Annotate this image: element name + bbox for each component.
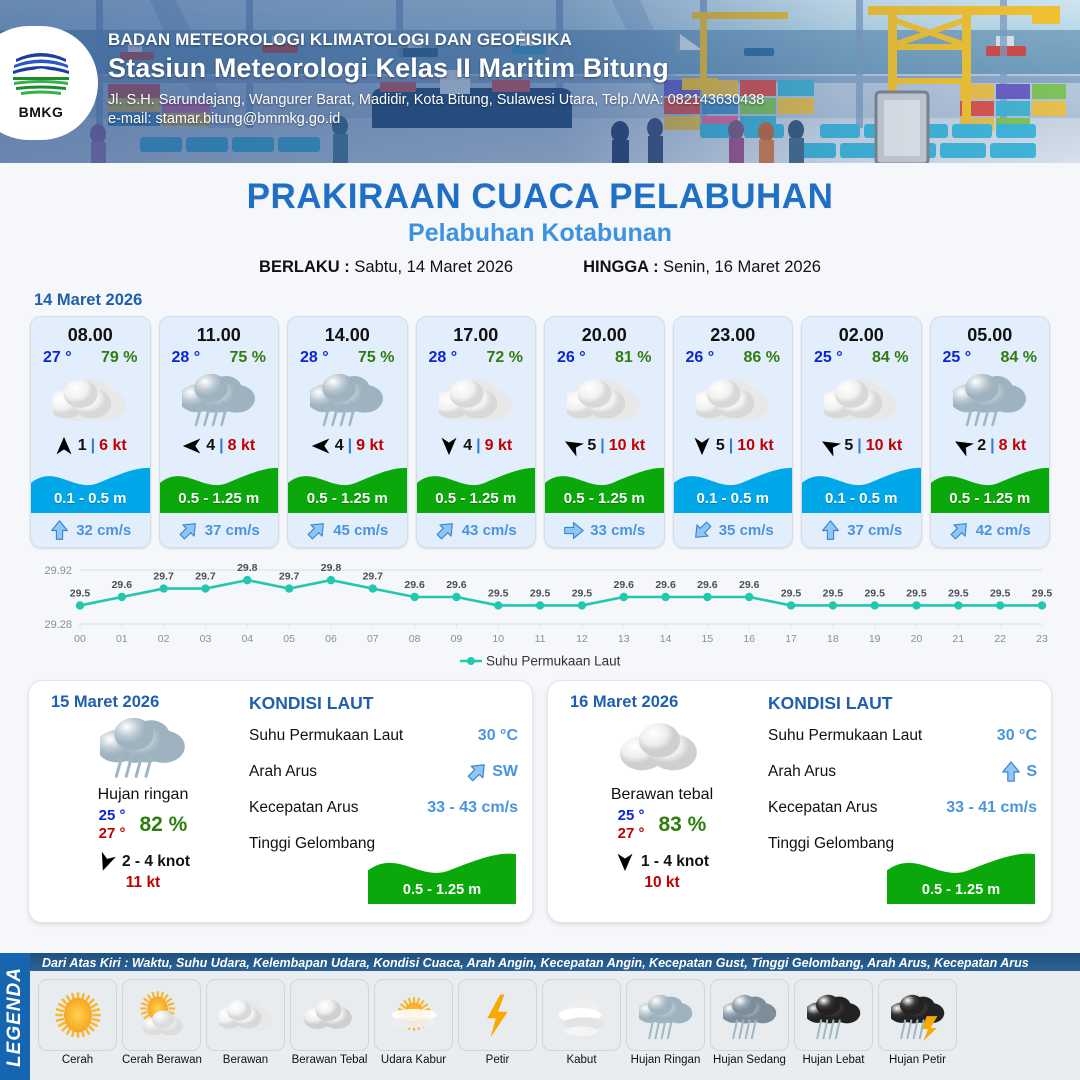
legend-item-label: Udara Kabur <box>374 1054 453 1066</box>
sea-condition-row: Arah Arus SW <box>249 754 518 790</box>
sea-condition-value: S <box>1026 763 1037 781</box>
svg-text:04: 04 <box>241 633 253 645</box>
legend-item-label: Petir <box>458 1054 537 1066</box>
card-humidity: 84 % <box>872 349 908 367</box>
legend-item-label: Cerah Berawan <box>122 1054 201 1066</box>
card-gust: 9 kt <box>356 437 384 455</box>
card-gust: 9 kt <box>485 437 513 455</box>
station-name: Stasiun Meteorologi Kelas II Maritim Bit… <box>108 53 764 84</box>
sea-condition-value: SW <box>492 763 518 781</box>
wind-separator: | <box>91 437 95 455</box>
current-direction-icon <box>462 756 493 787</box>
legend-icon-cerah-berawan <box>122 979 201 1051</box>
svg-text:29.7: 29.7 <box>195 571 216 583</box>
svg-text:29.5: 29.5 <box>1032 587 1053 599</box>
card-current-row: 35 cm/s <box>674 513 793 547</box>
card-humidity: 86 % <box>744 349 780 367</box>
legend-item: Berawan <box>206 979 285 1066</box>
card-wave-block: 0.5 - 1.25 m <box>545 461 664 513</box>
svg-text:01: 01 <box>116 633 128 645</box>
card-current-speed: 45 cm/s <box>333 522 388 539</box>
card-wave-block: 0.5 - 1.25 m <box>931 461 1050 513</box>
card-wind-row: 5 | 10 kt <box>545 431 664 461</box>
svg-text:29.7: 29.7 <box>153 571 174 583</box>
svg-text:07: 07 <box>367 633 379 645</box>
legend-note: Dari Atas Kiri : Waktu, Suhu Udara, Kele… <box>30 953 1080 975</box>
card-humidity: 81 % <box>615 349 651 367</box>
current-direction-icon <box>820 520 841 541</box>
sea-condition-value: 30 °C <box>997 727 1037 745</box>
svg-text:29.5: 29.5 <box>572 587 593 599</box>
card-wind-speed: 5 <box>716 437 725 455</box>
card-gust: 10 kt <box>866 437 902 455</box>
card-current-speed: 37 cm/s <box>205 522 260 539</box>
legend-item-label: Hujan Sedang <box>710 1054 789 1066</box>
hourly-date-label: 14 Maret 2026 <box>34 291 1080 310</box>
sea-condition-key: Suhu Permukaan Laut <box>768 727 922 745</box>
card-time: 08.00 <box>31 317 150 346</box>
card-gust: 10 kt <box>609 437 645 455</box>
svg-text:29.6: 29.6 <box>655 579 676 591</box>
wind-separator: | <box>729 437 733 455</box>
legend-item: Petir <box>458 979 537 1066</box>
svg-text:22: 22 <box>994 633 1006 645</box>
card-current-row: 45 cm/s <box>288 513 407 547</box>
card-current-speed: 33 cm/s <box>590 522 645 539</box>
page-subtitle: Pelabuhan Kotabunan <box>0 219 1080 248</box>
daily-wind-row: 2 - 4 knot <box>43 852 243 872</box>
sea-surface-temp-chart: 29.9229.28000102030405060708091011121314… <box>22 558 1058 656</box>
wind-direction-icon <box>439 436 459 456</box>
legend-item: Cerah <box>38 979 117 1066</box>
valid-until-value: Senin, 16 Maret 2026 <box>663 258 821 276</box>
validity-row: BERLAKU : Sabtu, 14 Maret 2026 HINGGA : … <box>0 258 1080 277</box>
legend-icon-hujan-sedang <box>710 979 789 1051</box>
card-wave-height: 0.1 - 0.5 m <box>674 490 793 507</box>
sea-condition-value: 30 °C <box>478 727 518 745</box>
card-humidity: 79 % <box>101 349 137 367</box>
svg-text:03: 03 <box>200 633 212 645</box>
daily-temp-min: 25 ° <box>99 807 126 824</box>
daily-wave-height: 0.5 - 1.25 m <box>368 882 516 898</box>
card-current-row: 33 cm/s <box>545 513 664 547</box>
wind-direction-icon <box>615 852 635 872</box>
card-weather-icon-berawan <box>31 369 150 431</box>
wind-direction-icon <box>182 436 202 456</box>
station-email: e-mail: stamar.bitung@bmmkg.go.id <box>108 111 764 127</box>
daily-temp-min: 25 ° <box>618 807 645 824</box>
wind-separator: | <box>600 437 604 455</box>
svg-text:11: 11 <box>535 633 546 645</box>
daily-right: KONDISI LAUT Suhu Permukaan Laut 30 °C A… <box>243 693 518 910</box>
card-wind-speed: 1 <box>78 437 87 455</box>
hourly-card: 20.00 26 ° 81 % 5 | 10 kt 0.5 - 1.25 m <box>544 316 665 548</box>
legend-item: Hujan Lebat <box>794 979 873 1066</box>
legend-icon-hujan-petir <box>878 979 957 1051</box>
svg-text:10: 10 <box>492 633 504 645</box>
wind-separator: | <box>857 437 861 455</box>
svg-text:29.92: 29.92 <box>44 565 72 577</box>
svg-text:29.6: 29.6 <box>614 579 635 591</box>
card-gust: 8 kt <box>228 437 256 455</box>
card-wind-row: 4 | 8 kt <box>160 431 279 461</box>
sea-condition-key: Kecepatan Arus <box>249 799 358 817</box>
svg-text:29.5: 29.5 <box>781 587 802 599</box>
card-wave-block: 0.5 - 1.25 m <box>288 461 407 513</box>
card-weather-icon-berawan <box>545 369 664 431</box>
card-weather-icon-berawan <box>417 369 536 431</box>
legend-icon-hujan-ringan <box>626 979 705 1051</box>
hourly-card: 14.00 28 ° 75 % 4 | 9 kt 0.5 - 1.25 m <box>287 316 408 548</box>
card-temperature: 26 ° <box>557 349 586 367</box>
card-time: 20.00 <box>545 317 664 346</box>
hourly-card: 23.00 26 ° 86 % 5 | 10 kt 0.1 - 0.5 m <box>673 316 794 548</box>
card-wind-row: 5 | 10 kt <box>674 431 793 461</box>
current-direction-icon <box>563 520 584 541</box>
card-current-row: 37 cm/s <box>160 513 279 547</box>
card-current-row: 37 cm/s <box>802 513 921 547</box>
card-time: 05.00 <box>931 317 1050 346</box>
card-temperature: 25 ° <box>943 349 972 367</box>
svg-text:29.7: 29.7 <box>363 571 384 583</box>
title-block: PRAKIRAAN CUACA PELABUHAN Pelabuhan Kota… <box>0 177 1080 277</box>
card-gust: 8 kt <box>999 437 1027 455</box>
svg-text:05: 05 <box>283 633 295 645</box>
chart-legend-marker-icon <box>460 656 482 666</box>
card-current-speed: 43 cm/s <box>462 522 517 539</box>
sea-condition-value: 33 - 43 cm/s <box>427 799 518 817</box>
card-gust: 10 kt <box>737 437 773 455</box>
daily-gust: 11 kt <box>43 874 243 892</box>
daily-gust: 10 kt <box>562 874 762 892</box>
card-temperature: 28 ° <box>300 349 329 367</box>
card-wave-height: 0.1 - 0.5 m <box>31 490 150 507</box>
daily-humidity: 82 % <box>139 813 187 837</box>
card-weather-icon-berawan <box>674 369 793 431</box>
bmkg-emblem-icon <box>10 47 72 103</box>
card-gust: 6 kt <box>99 437 127 455</box>
card-weather-icon-hujan-ringan <box>931 369 1050 431</box>
legend-icon-berawan-tebal <box>290 979 369 1051</box>
legend-item-label: Hujan Ringan <box>626 1054 705 1066</box>
legend-icon-petir <box>458 979 537 1051</box>
card-current-speed: 35 cm/s <box>719 522 774 539</box>
daily-summary-panel: 16 Maret 2026 Berawan tebal 25 ° 27 ° 83… <box>547 680 1052 923</box>
daily-temp-max: 27 ° <box>99 825 126 842</box>
card-temperature: 26 ° <box>686 349 715 367</box>
valid-until-label: HINGGA : <box>583 258 658 276</box>
sea-condition-key: Tinggi Gelombang <box>768 835 894 853</box>
card-wind-row: 5 | 10 kt <box>802 431 921 461</box>
current-direction-icon <box>1000 761 1022 783</box>
card-wave-block: 0.5 - 1.25 m <box>160 461 279 513</box>
page-title: PRAKIRAAN CUACA PELABUHAN <box>0 177 1080 217</box>
legend-item: Hujan Petir <box>878 979 957 1066</box>
sea-condition-key: Tinggi Gelombang <box>249 835 375 853</box>
svg-text:14: 14 <box>660 633 672 645</box>
card-wave-block: 0.1 - 0.5 m <box>31 461 150 513</box>
svg-text:29.28: 29.28 <box>44 619 72 631</box>
card-temperature: 27 ° <box>43 349 72 367</box>
svg-text:19: 19 <box>869 633 881 645</box>
daily-temp-max: 27 ° <box>618 825 645 842</box>
card-humidity: 72 % <box>487 349 523 367</box>
sea-condition-row: Kecepatan Arus 33 - 43 cm/s <box>249 790 518 826</box>
wind-direction-icon <box>54 436 74 456</box>
card-humidity: 75 % <box>358 349 394 367</box>
legend-icon-hujan-lebat <box>794 979 873 1051</box>
legend-item: Hujan Ringan <box>626 979 705 1066</box>
svg-text:29.6: 29.6 <box>446 579 467 591</box>
current-direction-icon <box>430 515 460 545</box>
card-wind-speed: 4 <box>335 437 344 455</box>
wind-direction-icon <box>692 436 712 456</box>
svg-text:06: 06 <box>325 633 337 645</box>
card-wind-speed: 5 <box>587 437 596 455</box>
svg-text:29.8: 29.8 <box>237 562 258 574</box>
svg-text:29.6: 29.6 <box>112 579 133 591</box>
sea-condition-row: Suhu Permukaan Laut 30 °C <box>768 718 1037 754</box>
daily-right: KONDISI LAUT Suhu Permukaan Laut 30 °C A… <box>762 693 1037 910</box>
daily-left: 16 Maret 2026 Berawan tebal 25 ° 27 ° 83… <box>562 693 762 910</box>
wind-direction-icon <box>560 432 587 459</box>
wind-direction-icon <box>817 432 844 459</box>
legend-item-label: Berawan <box>206 1054 285 1066</box>
card-weather-icon-berawan <box>802 369 921 431</box>
daily-wave-block: 0.5 - 1.25 m <box>887 846 1035 904</box>
card-wind-row: 2 | 8 kt <box>931 431 1050 461</box>
daily-condition: Hujan ringan <box>43 786 243 804</box>
legend-item-label: Cerah <box>38 1054 117 1066</box>
card-wind-row: 1 | 6 kt <box>31 431 150 461</box>
card-current-speed: 37 cm/s <box>847 522 902 539</box>
card-wind-row: 4 | 9 kt <box>288 431 407 461</box>
wind-direction-icon <box>950 432 977 459</box>
legend-body: Dari Atas Kiri : Waktu, Suhu Udara, Kele… <box>30 953 1080 1080</box>
card-wind-speed: 4 <box>463 437 472 455</box>
page-header: BMKG BADAN METEOROLOGI KLIMATOLOGI DAN G… <box>0 0 1080 163</box>
card-wind-speed: 5 <box>844 437 853 455</box>
svg-text:20: 20 <box>911 633 923 645</box>
wind-direction-icon <box>93 849 119 875</box>
svg-text:18: 18 <box>827 633 839 645</box>
sea-condition-key: Suhu Permukaan Laut <box>249 727 403 745</box>
daily-summary-row: 15 Maret 2026 Hujan ringan 25 ° 27 ° 82 … <box>0 670 1080 923</box>
sea-condition-key: Arah Arus <box>768 763 836 781</box>
sea-condition-row: Suhu Permukaan Laut 30 °C <box>249 718 518 754</box>
valid-from-label: BERLAKU : <box>259 258 350 276</box>
card-current-row: 43 cm/s <box>417 513 536 547</box>
card-current-row: 32 cm/s <box>31 513 150 547</box>
daily-date: 15 Maret 2026 <box>51 693 243 712</box>
legend-item: Kabut <box>542 979 621 1066</box>
daily-wind-range: 1 - 4 knot <box>641 853 709 871</box>
card-wave-block: 0.1 - 0.5 m <box>674 461 793 513</box>
svg-text:29.5: 29.5 <box>864 587 885 599</box>
sea-condition-title: KONDISI LAUT <box>768 693 1037 714</box>
svg-text:00: 00 <box>74 633 86 645</box>
sea-condition-key: Kecepatan Arus <box>768 799 877 817</box>
svg-text:09: 09 <box>451 633 463 645</box>
svg-text:29.5: 29.5 <box>488 587 509 599</box>
card-current-speed: 42 cm/s <box>976 522 1031 539</box>
svg-text:21: 21 <box>953 633 965 645</box>
station-address: Jl. S.H. Sarundajang, Wangurer Barat, Ma… <box>108 92 764 108</box>
svg-text:08: 08 <box>409 633 421 645</box>
legend-items-row: Cerah Cerah Berawan Berawan <box>30 975 1080 1066</box>
card-wave-block: 0.1 - 0.5 m <box>802 461 921 513</box>
svg-text:29.5: 29.5 <box>823 587 844 599</box>
valid-until: HINGGA : Senin, 16 Maret 2026 <box>583 258 821 277</box>
card-temperature: 25 ° <box>814 349 843 367</box>
card-time: 14.00 <box>288 317 407 346</box>
card-temperature: 28 ° <box>429 349 458 367</box>
card-humidity: 75 % <box>230 349 266 367</box>
legend-icon-berawan-leg <box>206 979 285 1051</box>
card-wind-speed: 4 <box>206 437 215 455</box>
legenda-sidebar-label: LEGENDA <box>4 967 26 1067</box>
agency-name: BADAN METEOROLOGI KLIMATOLOGI DAN GEOFIS… <box>108 30 764 50</box>
daily-humidity: 83 % <box>658 813 706 837</box>
sea-condition-title: KONDISI LAUT <box>249 693 518 714</box>
svg-text:23: 23 <box>1036 633 1048 645</box>
daily-summary-panel: 15 Maret 2026 Hujan ringan 25 ° 27 ° 82 … <box>28 680 533 923</box>
legend-item: Hujan Sedang <box>710 979 789 1066</box>
hourly-forecast-row: 08.00 27 ° 79 % 1 | 6 kt 0.1 - 0.5 m <box>0 316 1080 548</box>
card-time: 17.00 <box>417 317 536 346</box>
wind-direction-icon <box>311 436 331 456</box>
legend-icon-cerah <box>38 979 117 1051</box>
legend-item-label: Hujan Lebat <box>794 1054 873 1066</box>
card-wave-height: 0.5 - 1.25 m <box>417 490 536 507</box>
svg-text:29.5: 29.5 <box>948 587 969 599</box>
daily-wind-range: 2 - 4 knot <box>122 853 190 871</box>
daily-wave-height: 0.5 - 1.25 m <box>887 882 1035 898</box>
card-time: 23.00 <box>674 317 793 346</box>
header-text-block: BADAN METEOROLOGI KLIMATOLOGI DAN GEOFIS… <box>108 30 764 127</box>
daily-weather-icon-berawan-tebal <box>562 714 762 782</box>
wind-separator: | <box>348 437 352 455</box>
legend-section: LEGENDA Dari Atas Kiri : Waktu, Suhu Uda… <box>0 953 1080 1080</box>
card-humidity: 84 % <box>1001 349 1037 367</box>
legend-item-label: Hujan Petir <box>878 1054 957 1066</box>
daily-wave-block: 0.5 - 1.25 m <box>368 846 516 904</box>
current-direction-icon <box>49 520 70 541</box>
card-wave-block: 0.5 - 1.25 m <box>417 461 536 513</box>
svg-text:02: 02 <box>158 633 170 645</box>
sea-condition-key: Arah Arus <box>249 763 317 781</box>
sea-condition-row: Arah Arus S <box>768 754 1037 790</box>
daily-temps: 25 ° 27 ° 82 % <box>43 807 243 844</box>
card-wind-speed: 2 <box>977 437 986 455</box>
hourly-card: 05.00 25 ° 84 % 2 | 8 kt 0.5 - 1.25 m <box>930 316 1051 548</box>
legend-item-label: Kabut <box>542 1054 621 1066</box>
wind-separator: | <box>476 437 480 455</box>
legend-icon-kabut <box>542 979 621 1051</box>
svg-text:29.5: 29.5 <box>990 587 1011 599</box>
daily-left: 15 Maret 2026 Hujan ringan 25 ° 27 ° 82 … <box>43 693 243 910</box>
sea-condition-row: Kecepatan Arus 33 - 41 cm/s <box>768 790 1037 826</box>
card-wave-height: 0.5 - 1.25 m <box>931 490 1050 507</box>
daily-wind-row: 1 - 4 knot <box>562 852 762 872</box>
logo-label: BMKG <box>19 104 64 120</box>
svg-text:29.6: 29.6 <box>697 579 718 591</box>
daily-date: 16 Maret 2026 <box>570 693 762 712</box>
svg-text:15: 15 <box>702 633 714 645</box>
current-direction-icon <box>173 515 203 545</box>
hourly-card: 08.00 27 ° 79 % 1 | 6 kt 0.1 - 0.5 m <box>30 316 151 548</box>
current-direction-icon <box>944 515 974 545</box>
card-wave-height: 0.5 - 1.25 m <box>288 490 407 507</box>
wind-separator: | <box>219 437 223 455</box>
svg-text:29.7: 29.7 <box>279 571 300 583</box>
sea-condition-value: 33 - 41 cm/s <box>946 799 1037 817</box>
card-current-speed: 32 cm/s <box>76 522 131 539</box>
hourly-card: 17.00 28 ° 72 % 4 | 9 kt 0.5 - 1.25 m <box>416 316 537 548</box>
valid-from-value: Sabtu, 14 Maret 2026 <box>354 258 513 276</box>
card-temperature: 28 ° <box>172 349 201 367</box>
daily-condition: Berawan tebal <box>562 786 762 804</box>
current-direction-icon <box>302 515 332 545</box>
card-time: 11.00 <box>160 317 279 346</box>
daily-temps: 25 ° 27 ° 83 % <box>562 807 762 844</box>
svg-text:13: 13 <box>618 633 630 645</box>
svg-text:12: 12 <box>576 633 588 645</box>
svg-text:29.5: 29.5 <box>906 587 927 599</box>
card-wind-row: 4 | 9 kt <box>417 431 536 461</box>
card-weather-icon-hujan-ringan <box>288 369 407 431</box>
card-wave-height: 0.1 - 0.5 m <box>802 490 921 507</box>
svg-text:29.5: 29.5 <box>530 587 551 599</box>
legenda-sidebar: LEGENDA <box>0 953 30 1080</box>
hourly-card: 02.00 25 ° 84 % 5 | 10 kt 0.1 - 0.5 m <box>801 316 922 548</box>
card-current-row: 42 cm/s <box>931 513 1050 547</box>
card-wave-height: 0.5 - 1.25 m <box>160 490 279 507</box>
svg-text:16: 16 <box>743 633 755 645</box>
legend-item: Berawan Tebal <box>290 979 369 1066</box>
card-weather-icon-hujan-ringan <box>160 369 279 431</box>
daily-weather-icon-hujan-ringan <box>43 714 243 782</box>
svg-text:29.8: 29.8 <box>321 562 342 574</box>
hourly-card: 11.00 28 ° 75 % 4 | 8 kt 0.5 - 1.25 m <box>159 316 280 548</box>
svg-text:29.6: 29.6 <box>739 579 760 591</box>
card-wave-height: 0.5 - 1.25 m <box>545 490 664 507</box>
svg-text:29.5: 29.5 <box>70 587 91 599</box>
legend-item: Cerah Berawan <box>122 979 201 1066</box>
legend-item-label: Berawan Tebal <box>290 1054 369 1066</box>
legend-item: Udara Kabur <box>374 979 453 1066</box>
svg-text:17: 17 <box>785 633 797 645</box>
current-direction-icon <box>687 515 717 545</box>
valid-from: BERLAKU : Sabtu, 14 Maret 2026 <box>259 258 513 277</box>
card-time: 02.00 <box>802 317 921 346</box>
wind-separator: | <box>990 437 994 455</box>
svg-text:29.6: 29.6 <box>404 579 425 591</box>
legend-icon-udara-kabur <box>374 979 453 1051</box>
